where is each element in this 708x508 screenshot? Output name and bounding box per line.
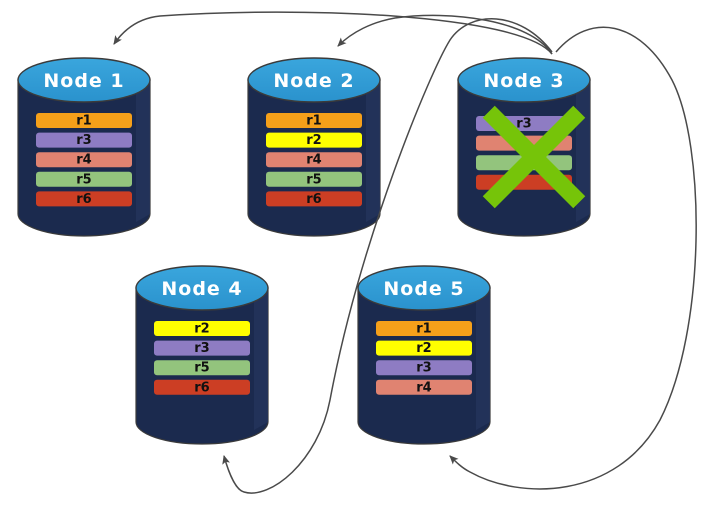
- node-2-row-5-label: r6: [306, 192, 321, 207]
- node-1-row-1-label: r1: [76, 114, 91, 129]
- node-2-row-1-label: r1: [306, 114, 321, 129]
- diagram-svg: Node 1r1r3r4r5r6Node 2r1r2r4r5r6Node 3r3…: [0, 0, 708, 508]
- node-5-body-shading: [476, 288, 490, 430]
- node-1-body-shading: [136, 80, 150, 222]
- node-3-row-1-label: r3: [516, 117, 531, 132]
- node-4-row-1-label: r2: [194, 322, 209, 337]
- diagram-canvas: Node 1r1r3r4r5r6Node 2r1r2r4r5r6Node 3r3…: [0, 0, 708, 508]
- node-4-body-shading: [254, 288, 268, 430]
- node-4[interactable]: Node 4r2r3r5r6: [136, 266, 268, 444]
- node-4-row-4-label: r6: [194, 380, 209, 395]
- node-1-label: Node 1: [43, 70, 124, 92]
- node-5[interactable]: Node 5r1r2r3r4: [358, 266, 490, 444]
- node-4-row-2-label: r3: [194, 341, 209, 356]
- node-1-row-3-label: r4: [76, 153, 91, 168]
- node-5-label: Node 5: [383, 278, 464, 300]
- node-2-row-2-label: r2: [306, 133, 321, 148]
- node-5-row-2-label: r2: [416, 341, 431, 356]
- node-1-row-2-label: r3: [76, 133, 91, 148]
- node-1-row-4-label: r5: [76, 172, 91, 187]
- node-2-label: Node 2: [273, 70, 354, 92]
- node-5-row-1-label: r1: [416, 322, 431, 337]
- node-1-row-5-label: r6: [76, 192, 91, 207]
- node-4-row-3-label: r5: [194, 361, 209, 376]
- node-3-label: Node 3: [483, 70, 564, 92]
- node-5-row-3-label: r3: [416, 361, 431, 376]
- node-5-row-4-label: r4: [416, 380, 431, 395]
- node-1[interactable]: Node 1r1r3r4r5r6: [18, 58, 150, 236]
- node-4-label: Node 4: [161, 278, 242, 300]
- node-2-body-shading: [366, 80, 380, 222]
- node-2-row-3-label: r4: [306, 153, 321, 168]
- node-2-row-4-label: r5: [306, 172, 321, 187]
- node-2[interactable]: Node 2r1r2r4r5r6: [248, 58, 380, 236]
